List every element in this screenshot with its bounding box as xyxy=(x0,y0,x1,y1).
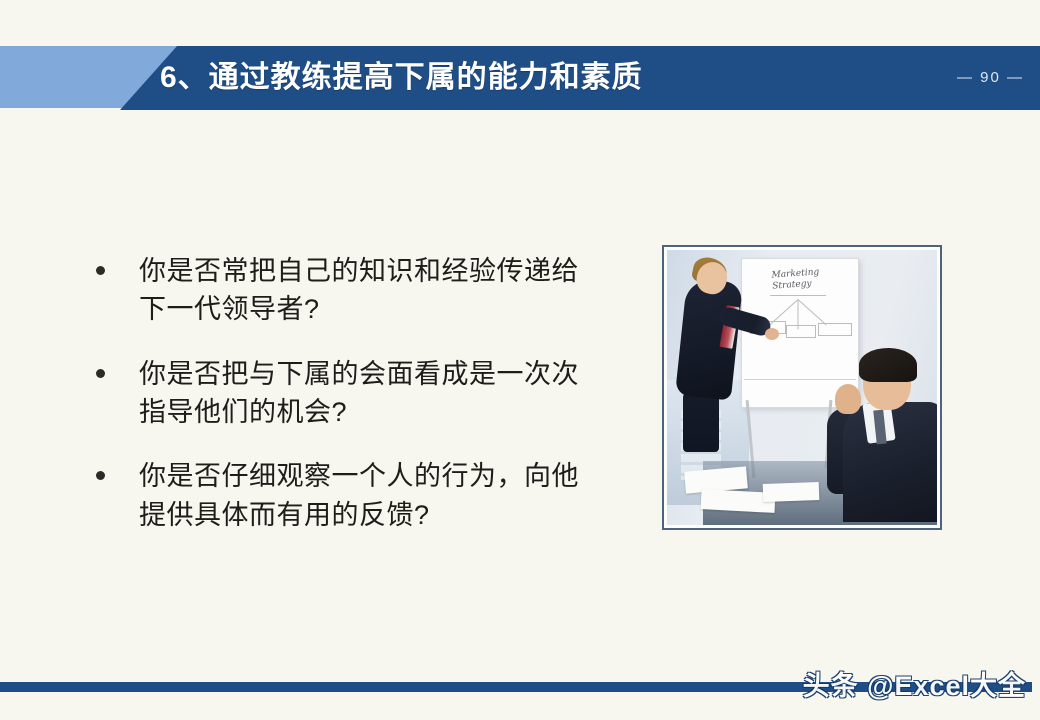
photo-woman-legs xyxy=(683,390,719,452)
photo-woman-hand xyxy=(765,328,779,340)
photo-paper xyxy=(763,482,820,502)
flipchart-underline xyxy=(770,295,826,296)
page-title: 6、通过教练提高下属的能力和素质 xyxy=(160,46,643,110)
flipchart-box xyxy=(818,323,852,336)
bullet-list: 你是否常把自己的知识和经验传递给下一代领导者? 你是否把与下属的会面看成是一次次… xyxy=(96,252,606,534)
flipchart-connector xyxy=(798,299,827,325)
flipchart-shelf xyxy=(744,379,856,380)
slide: 6、通过教练提高下属的能力和素质 — 90 — 你是否常把自己的知识和经验传递给… xyxy=(0,0,1040,720)
content-photo: Marketing Strategy xyxy=(662,245,942,530)
flipchart-heading-line2: Strategy xyxy=(772,279,820,294)
photo-man-hand xyxy=(835,384,861,414)
bullet-text: 你是否把与下属的会面看成是一次次指导他们的机会? xyxy=(139,355,606,432)
bullet-text: 你是否常把自己的知识和经验传递给下一代领导者? xyxy=(139,252,606,329)
flipchart-heading: Marketing Strategy xyxy=(771,267,820,293)
photo-man-hair xyxy=(859,348,917,382)
bullet-dot-icon xyxy=(96,266,105,275)
list-item: 你是否把与下属的会面看成是一次次指导他们的机会? xyxy=(96,355,606,432)
page-number: — 90 — xyxy=(957,46,1024,110)
list-item: 你是否常把自己的知识和经验传递给下一代领导者? xyxy=(96,252,606,329)
flipchart-box xyxy=(786,325,816,338)
watermark: 头条 @Excel大全 xyxy=(803,664,1026,703)
list-item: 你是否仔细观察一个人的行为，向他提供具体而有用的反馈? xyxy=(96,457,606,534)
bullet-dot-icon xyxy=(96,369,105,378)
bullet-text: 你是否仔细观察一个人的行为，向他提供具体而有用的反馈? xyxy=(139,457,606,534)
bullet-dot-icon xyxy=(96,471,105,480)
photo-illustration: Marketing Strategy xyxy=(667,250,937,525)
